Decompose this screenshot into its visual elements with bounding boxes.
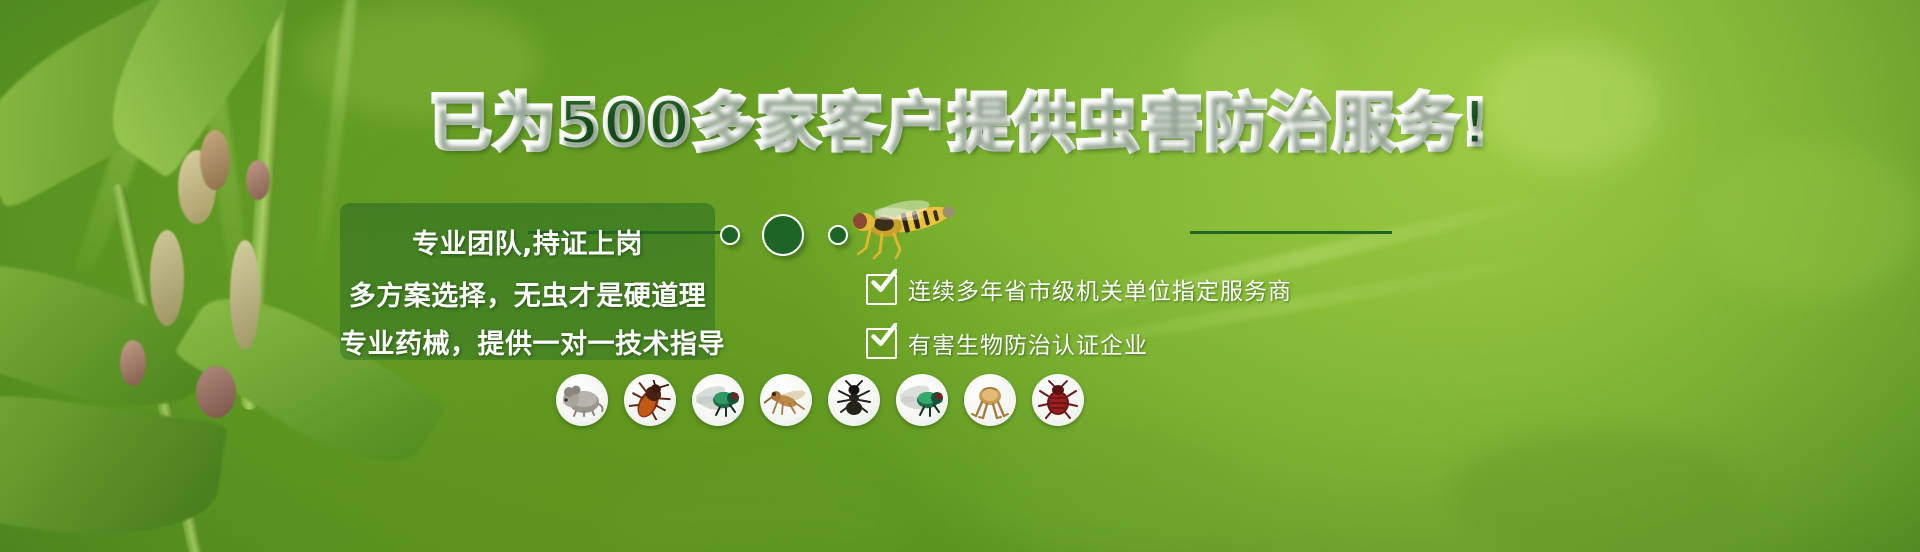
certification-label: 有害生物防治认证企业: [908, 326, 1148, 360]
bedbug-icon[interactable]: [1032, 374, 1084, 426]
blowfly-icon[interactable]: [896, 374, 948, 426]
certification-list: 连续多年省市级机关单位指定服务商 有害生物防治认证企业: [866, 272, 1292, 380]
pest-control-banner: 已为500多家客户提供虫害防治服务! 专业团队,持证上岗 多方案选择，无虫才是硬…: [0, 0, 1920, 552]
cockroach-icon[interactable]: [624, 374, 676, 426]
page-title: 已为500多家客户提供虫害防治服务!: [429, 72, 1491, 162]
certification-label: 连续多年省市级机关单位指定服务商: [908, 272, 1292, 306]
ant-icon[interactable]: [828, 374, 880, 426]
flea-icon[interactable]: [964, 374, 1016, 426]
pest-icon-row: [556, 374, 1084, 426]
dot-large-icon: [762, 214, 804, 256]
selling-points-box: 专业团队,持证上岗 多方案选择，无虫才是硬道理 专业药械，提供一对一技术指导: [340, 203, 715, 360]
mouse-icon[interactable]: [556, 374, 608, 426]
page-title-text: 已为500多家客户提供虫害防治服务!: [429, 86, 1491, 159]
selling-point-line-1: 专业团队,持证上岗: [340, 222, 715, 261]
list-item: 连续多年省市级机关单位指定服务商: [866, 272, 1292, 306]
selling-point-line-2: 多方案选择，无虫才是硬道理: [340, 274, 715, 313]
dot-small-left-icon: [720, 225, 740, 245]
hoverfly-icon: [840, 196, 970, 266]
checkbox-checked-icon: [866, 328, 897, 359]
checkbox-checked-icon: [866, 274, 897, 305]
mosquito-icon[interactable]: [760, 374, 812, 426]
fly-icon[interactable]: [692, 374, 744, 426]
divider-line-right: [1190, 231, 1392, 234]
list-item: 有害生物防治认证企业: [866, 326, 1292, 360]
selling-point-line-3: 专业药械，提供一对一技术指导: [340, 322, 715, 361]
